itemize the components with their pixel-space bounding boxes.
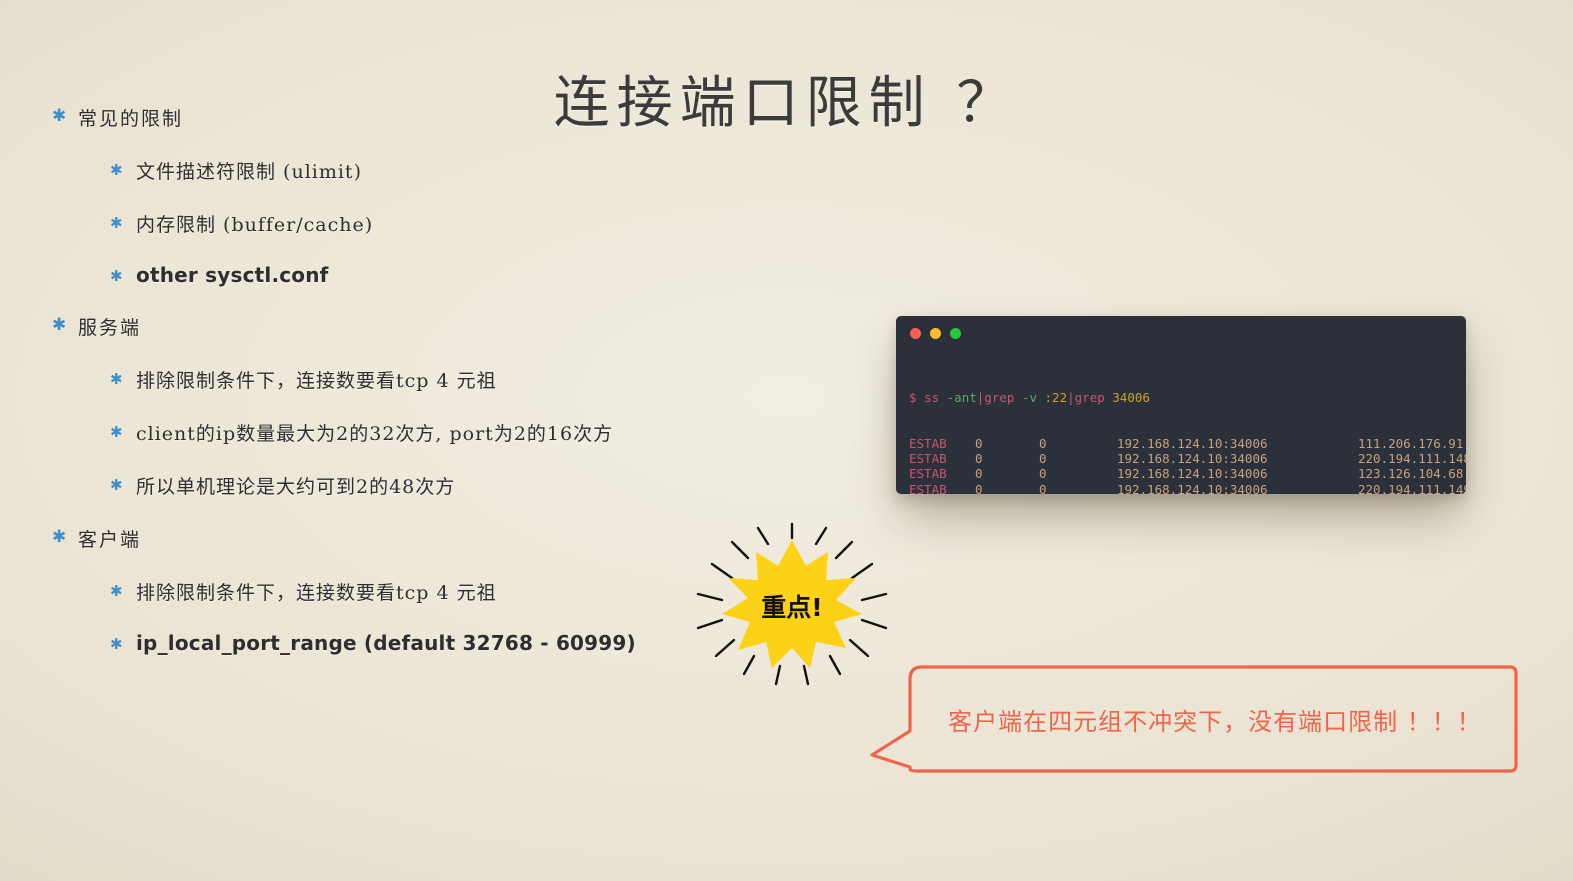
terminal-row: ESTAB00192.168.124.10:34006220.194.111.1… [909,451,1466,466]
asterisk-bullet-icon: ✱ [110,216,130,231]
slide-canvas: 连接端口限制 ？ ✱常见的限制✱文件描述符限制 (ulimit)✱内存限制 (b… [0,0,1573,881]
outline-item-label: 排除限制条件下，连接数要看tcp 4 元祖 [130,578,497,605]
outline-item: ✱排除限制条件下，连接数要看tcp 4 元祖 [52,366,692,393]
outline-item: ✱client的ip数量最大为2的32次方, port为2的16次方 [52,419,692,446]
minimize-button-icon[interactable] [930,328,941,339]
recv-queue: 0 [975,466,1039,481]
terminal-row: ESTAB00192.168.124.10:34006123.126.104.6… [909,466,1466,481]
connection-state: ESTAB [909,451,975,466]
outline-item-label: client的ip数量最大为2的32次方, port为2的16次方 [130,419,613,446]
outline-item-label: 内存限制 (buffer/cache) [130,210,373,237]
key-point-starburst: 重点! [692,522,892,687]
peer-address: 220.194.111.148:80 [1358,451,1466,466]
outline-item-label: 所以单机理论是大约可到2的48次方 [130,472,455,499]
peer-address: 123.126.104.68:80 [1358,466,1466,481]
asterisk-bullet-icon: ✱ [110,425,130,440]
asterisk-bullet-icon: ✱ [110,269,130,284]
outline-item: ✱排除限制条件下，连接数要看tcp 4 元祖 [52,578,692,605]
close-button-icon[interactable] [910,328,921,339]
outline-item: ✱文件描述符限制 (ulimit) [52,157,692,184]
terminal-window[interactable]: $ ss -ant|grep -v :22|grep 34006 ESTAB00… [896,316,1466,494]
asterisk-bullet-icon: ✱ [52,529,72,546]
local-address: 192.168.124.10:34006 [1117,482,1358,494]
terminal-token: grep [984,390,1014,405]
local-address: 192.168.124.10:34006 [1117,466,1358,481]
outline-item-label: other sysctl.conf [130,263,329,287]
terminal-command-line: $ ss -ant|grep -v :22|grep 34006 [909,390,1466,405]
terminal-output: $ ss -ant|grep -v :22|grep 34006 ESTAB00… [909,360,1466,494]
outline-item-label: 服务端 [72,313,141,340]
asterisk-bullet-icon: ✱ [52,317,72,334]
starburst-shape [722,540,862,668]
outline-item-label: 文件描述符限制 (ulimit) [130,157,362,184]
recv-queue: 0 [975,436,1039,451]
asterisk-bullet-icon: ✱ [110,163,130,178]
callout-bubble: 客户端在四元组不冲突下，没有端口限制 ！！！ [866,663,1518,775]
outline-item: ✱所以单机理论是大约可到2的48次方 [52,472,692,499]
outline-item-label: 客户端 [72,525,141,552]
connection-state: ESTAB [909,436,975,451]
outline-item-label: ip_local_port_range (default 32768 - 609… [130,631,636,655]
outline-item-label: 常见的限制 [72,104,183,131]
terminal-token: -v [1022,390,1037,405]
terminal-token: grep [1075,390,1105,405]
asterisk-bullet-icon: ✱ [110,637,130,652]
local-address: 192.168.124.10:34006 [1117,451,1358,466]
send-queue: 0 [1039,466,1117,481]
asterisk-bullet-icon: ✱ [110,478,130,493]
terminal-token: ss [924,390,939,405]
maximize-button-icon[interactable] [950,328,961,339]
terminal-token: :22 [1045,390,1068,405]
outline-item: ✱内存限制 (buffer/cache) [52,210,692,237]
asterisk-bullet-icon: ✱ [52,108,72,125]
terminal-token: $ [909,390,917,405]
peer-address: 220.194.111.149:80 [1358,482,1466,494]
peer-address: 111.206.176.91:80 [1358,436,1466,451]
outline-item: ✱ip_local_port_range (default 32768 - 60… [52,631,692,655]
asterisk-bullet-icon: ✱ [110,372,130,387]
terminal-traffic-lights [910,328,961,339]
callout-outline [872,667,1516,771]
connection-state: ESTAB [909,466,975,481]
send-queue: 0 [1039,482,1117,494]
send-queue: 0 [1039,451,1117,466]
terminal-token: -ant [947,390,977,405]
recv-queue: 0 [975,482,1039,494]
connection-state: ESTAB [909,482,975,494]
recv-queue: 0 [975,451,1039,466]
terminal-token: 34006 [1112,390,1150,405]
terminal-row: ESTAB00192.168.124.10:34006220.194.111.1… [909,482,1466,494]
send-queue: 0 [1039,436,1117,451]
outline-item: ✱服务端 [52,313,692,340]
outline-item-label: 排除限制条件下，连接数要看tcp 4 元祖 [130,366,497,393]
terminal-token: | [1067,390,1075,405]
outline-item: ✱常见的限制 [52,104,692,131]
local-address: 192.168.124.10:34006 [1117,436,1358,451]
outline-list: ✱常见的限制✱文件描述符限制 (ulimit)✱内存限制 (buffer/cac… [52,104,692,681]
outline-item: ✱other sysctl.conf [52,263,692,287]
asterisk-bullet-icon: ✱ [110,584,130,599]
terminal-row: ESTAB00192.168.124.10:34006111.206.176.9… [909,436,1466,451]
outline-item: ✱客户端 [52,525,692,552]
terminal-connection-rows: ESTAB00192.168.124.10:34006111.206.176.9… [909,436,1466,494]
